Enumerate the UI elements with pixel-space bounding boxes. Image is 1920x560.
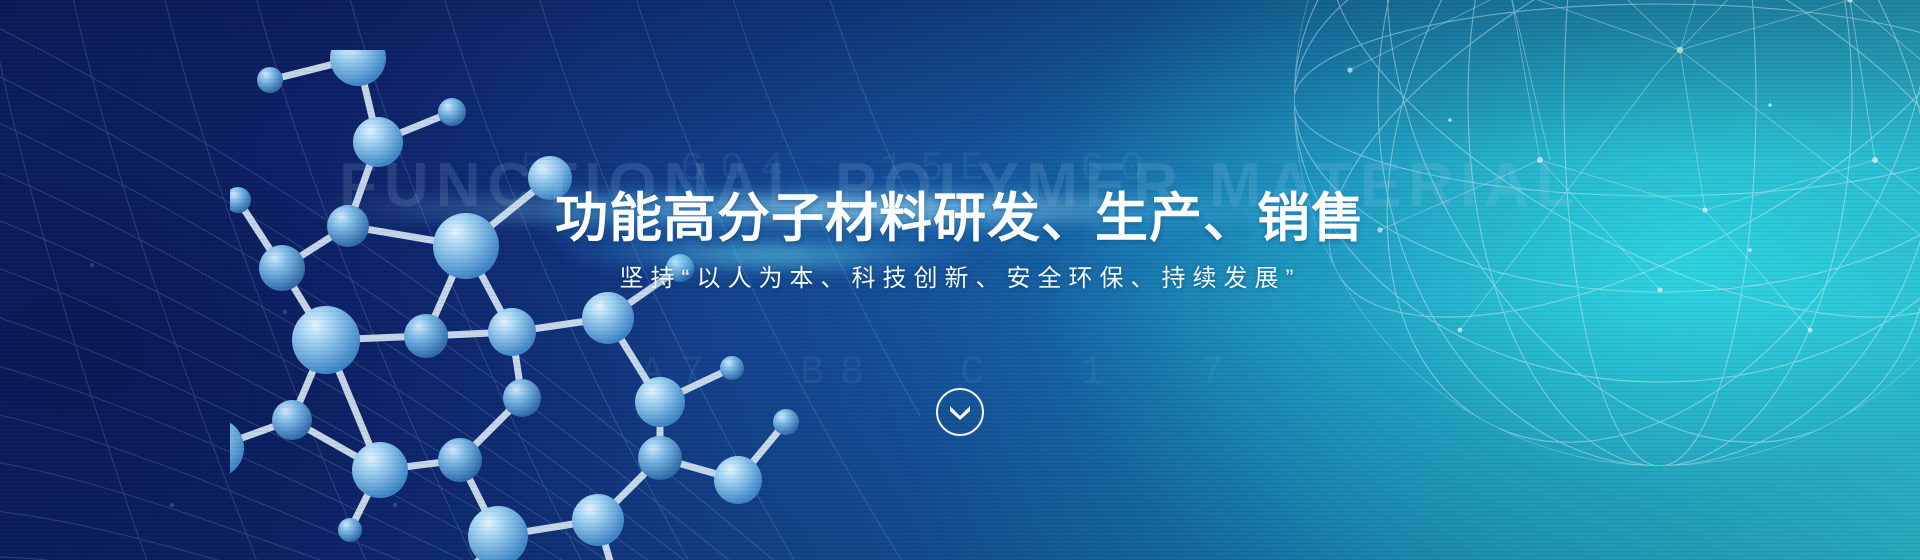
scroll-down-button[interactable] [936, 388, 984, 436]
chevron-down-icon [948, 404, 972, 420]
hero-banner: 5 604 15E 60 A7 B8 C 1 7 0 2 3 5E 0 8 14… [0, 0, 1920, 560]
page-subtitle: 坚持“以人为本、科技创新、安全环保、持续发展” [0, 258, 1920, 293]
page-title: 功能高分子材料研发、生产、销售 [0, 176, 1920, 252]
banner-content: 功能高分子材料研发、生产、销售 坚持“以人为本、科技创新、安全环保、持续发展” [0, 0, 1920, 560]
